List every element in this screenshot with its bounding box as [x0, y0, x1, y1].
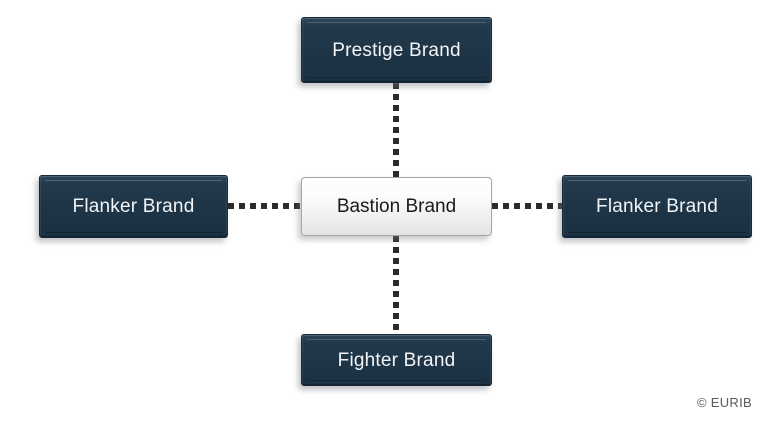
node-flanker-brand-right[interactable]: Flanker Brand	[562, 175, 752, 238]
diagram-canvas: Prestige Brand Flanker Brand Bastion Bra…	[0, 0, 768, 422]
node-bastion-brand-label: Bastion Brand	[337, 197, 456, 216]
connector-prestige-to-bastion	[393, 83, 399, 178]
connector-bastion-to-flanker-right	[492, 203, 562, 209]
connector-flanker-left-to-bastion	[228, 203, 302, 209]
copyright-notice: © EURIB	[697, 395, 752, 410]
connector-bastion-to-fighter	[393, 236, 399, 335]
node-bastion-brand[interactable]: Bastion Brand	[301, 177, 492, 236]
node-flanker-brand-right-label: Flanker Brand	[596, 197, 718, 216]
node-fighter-brand-label: Fighter Brand	[338, 351, 456, 370]
node-flanker-brand-left-label: Flanker Brand	[73, 197, 195, 216]
node-prestige-brand[interactable]: Prestige Brand	[301, 17, 492, 83]
node-prestige-brand-label: Prestige Brand	[332, 41, 460, 60]
node-flanker-brand-left[interactable]: Flanker Brand	[39, 175, 228, 238]
node-fighter-brand[interactable]: Fighter Brand	[301, 334, 492, 386]
